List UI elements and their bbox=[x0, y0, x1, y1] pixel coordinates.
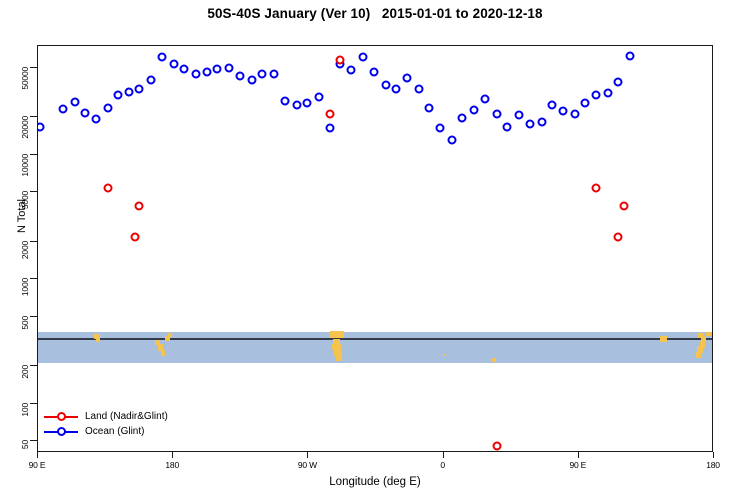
y-tick-label: 50000 bbox=[20, 67, 30, 107]
x-tick-mark bbox=[443, 452, 444, 458]
y-tick-label: 200 bbox=[20, 365, 30, 405]
legend-ocean[interactable]: Ocean (Glint) bbox=[44, 424, 168, 439]
legend-marker-icon bbox=[44, 411, 78, 422]
y-tick-mark bbox=[30, 191, 37, 192]
legend-marker-icon bbox=[44, 426, 78, 437]
y-tick-label: 10000 bbox=[20, 154, 30, 194]
y-tick-mark bbox=[30, 365, 37, 366]
y-tick-label: 2000 bbox=[20, 241, 30, 281]
y-tick-label: 500 bbox=[20, 316, 30, 356]
x-tick-label: 180 bbox=[706, 460, 720, 470]
y-tick-mark bbox=[30, 241, 37, 242]
x-tick-label: 90 E bbox=[29, 460, 46, 470]
y-tick-label: 1000 bbox=[20, 278, 30, 318]
y-tick-mark bbox=[30, 154, 37, 155]
x-tick-mark bbox=[307, 452, 308, 458]
x-tick-mark bbox=[578, 452, 579, 458]
x-tick-label: 90 W bbox=[298, 460, 317, 470]
plot-frame bbox=[37, 45, 713, 452]
x-tick-label: 90 E bbox=[569, 460, 586, 470]
legend-label: Land (Nadir&Glint) bbox=[85, 411, 168, 422]
y-tick-mark bbox=[30, 67, 37, 68]
legend: Land (Nadir&Glint)Ocean (Glint) bbox=[44, 409, 168, 439]
x-tick-mark bbox=[713, 452, 714, 458]
y-tick-mark bbox=[30, 116, 37, 117]
x-tick-label: 180 bbox=[165, 460, 179, 470]
y-tick-mark bbox=[30, 316, 37, 317]
y-tick-label: 5000 bbox=[20, 191, 30, 231]
chart-title: 50S-40S January (Ver 10) 2015-01-01 to 2… bbox=[0, 6, 750, 21]
y-tick-label: 20000 bbox=[20, 116, 30, 156]
y-tick-mark bbox=[30, 278, 37, 279]
x-tick-mark bbox=[37, 452, 38, 458]
legend-label: Ocean (Glint) bbox=[85, 426, 144, 437]
y-tick-label: 100 bbox=[20, 403, 30, 443]
x-tick-mark bbox=[172, 452, 173, 458]
y-tick-mark bbox=[30, 440, 37, 441]
y-tick-mark bbox=[30, 403, 37, 404]
plot-canvas: 50S-40S January (Ver 10) 2015-01-01 to 2… bbox=[0, 0, 750, 500]
legend-land[interactable]: Land (Nadir&Glint) bbox=[44, 409, 168, 424]
x-axis-label: Longitude (deg E) bbox=[0, 476, 750, 488]
x-tick-label: 0 bbox=[440, 460, 445, 470]
